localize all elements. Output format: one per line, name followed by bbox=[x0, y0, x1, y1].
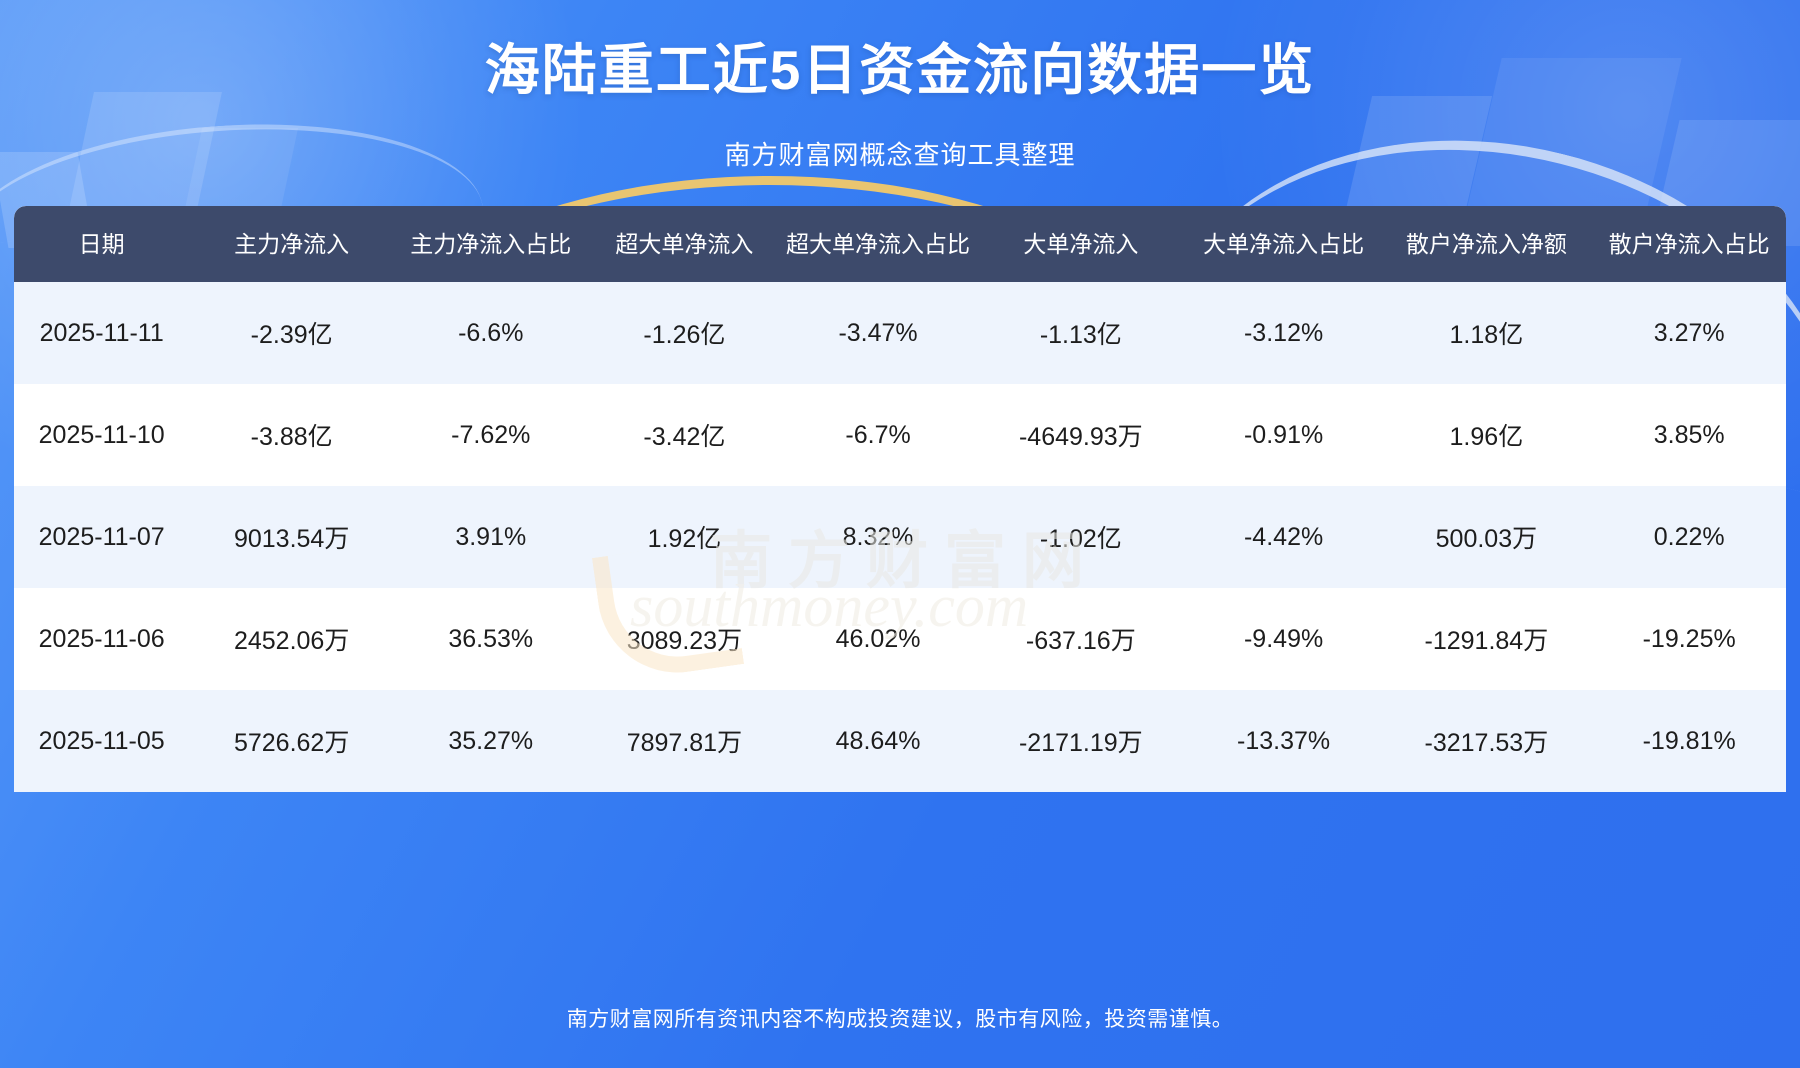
col-header-large-pct: 大单净流入占比 bbox=[1187, 206, 1381, 282]
table-row: 2025-11-10 -3.88亿 -7.62% -3.42亿 -6.7% -4… bbox=[14, 384, 1786, 486]
cell-xlarge-net: 7897.81万 bbox=[588, 690, 782, 792]
cell-large-pct: -0.91% bbox=[1187, 384, 1381, 486]
cell-large-net: -637.16万 bbox=[975, 588, 1187, 690]
footer: 南方财富网所有资讯内容不构成投资建议，股市有风险，投资需谨慎。 bbox=[0, 968, 1800, 1068]
cell-retail-pct: -19.25% bbox=[1592, 588, 1786, 690]
col-header-main-net: 主力净流入 bbox=[189, 206, 394, 282]
cell-large-net: -1.13亿 bbox=[975, 282, 1187, 384]
infographic-page: 海陆重工近5日资金流向数据一览 南方财富网概念查询工具整理 日期 主力净流入 主… bbox=[0, 0, 1800, 1068]
table-header-row: 日期 主力净流入 主力净流入占比 超大单净流入 超大单净流入占比 大单净流入 大… bbox=[14, 206, 1786, 282]
cell-xlarge-net: -1.26亿 bbox=[588, 282, 782, 384]
table-row: 2025-11-07 9013.54万 3.91% 1.92亿 8.32% -1… bbox=[14, 486, 1786, 588]
cell-large-net: -4649.93万 bbox=[975, 384, 1187, 486]
cell-retail-pct: -19.81% bbox=[1592, 690, 1786, 792]
cell-date: 2025-11-06 bbox=[14, 588, 189, 690]
cell-main-net: 9013.54万 bbox=[189, 486, 394, 588]
fund-flow-table-card: 日期 主力净流入 主力净流入占比 超大单净流入 超大单净流入占比 大单净流入 大… bbox=[14, 206, 1786, 792]
cell-xlarge-pct: 46.02% bbox=[781, 588, 975, 690]
cell-xlarge-pct: 48.64% bbox=[781, 690, 975, 792]
cell-date: 2025-11-05 bbox=[14, 690, 189, 792]
cell-date: 2025-11-10 bbox=[14, 384, 189, 486]
table-body: 2025-11-11 -2.39亿 -6.6% -1.26亿 -3.47% -1… bbox=[14, 282, 1786, 792]
cell-large-pct: -4.42% bbox=[1187, 486, 1381, 588]
table-row: 2025-11-06 2452.06万 36.53% 3089.23万 46.0… bbox=[14, 588, 1786, 690]
col-header-main-pct: 主力净流入占比 bbox=[394, 206, 588, 282]
page-subtitle: 南方财富网概念查询工具整理 bbox=[0, 135, 1800, 172]
cell-main-pct: -7.62% bbox=[394, 384, 588, 486]
cell-retail-net: 1.18亿 bbox=[1380, 282, 1592, 384]
cell-large-net: -1.02亿 bbox=[975, 486, 1187, 588]
cell-xlarge-pct: 8.32% bbox=[781, 486, 975, 588]
col-header-retail-pct: 散户净流入占比 bbox=[1592, 206, 1786, 282]
cell-xlarge-pct: -3.47% bbox=[781, 282, 975, 384]
cell-date: 2025-11-11 bbox=[14, 282, 189, 384]
cell-main-pct: 3.91% bbox=[394, 486, 588, 588]
cell-retail-pct: 3.27% bbox=[1592, 282, 1786, 384]
cell-retail-pct: 3.85% bbox=[1592, 384, 1786, 486]
cell-retail-pct: 0.22% bbox=[1592, 486, 1786, 588]
fund-flow-table: 日期 主力净流入 主力净流入占比 超大单净流入 超大单净流入占比 大单净流入 大… bbox=[14, 206, 1786, 792]
cell-retail-net: 1.96亿 bbox=[1380, 384, 1592, 486]
cell-retail-net: 500.03万 bbox=[1380, 486, 1592, 588]
table-row: 2025-11-05 5726.62万 35.27% 7897.81万 48.6… bbox=[14, 690, 1786, 792]
col-header-large-net: 大单净流入 bbox=[975, 206, 1187, 282]
cell-large-pct: -3.12% bbox=[1187, 282, 1381, 384]
cell-large-net: -2171.19万 bbox=[975, 690, 1187, 792]
cell-main-net: -3.88亿 bbox=[189, 384, 394, 486]
cell-main-net: -2.39亿 bbox=[189, 282, 394, 384]
cell-main-pct: -6.6% bbox=[394, 282, 588, 384]
cell-xlarge-net: -3.42亿 bbox=[588, 384, 782, 486]
cell-main-pct: 35.27% bbox=[394, 690, 588, 792]
cell-xlarge-pct: -6.7% bbox=[781, 384, 975, 486]
banner-header: 海陆重工近5日资金流向数据一览 南方财富网概念查询工具整理 bbox=[0, 0, 1800, 172]
col-header-xlarge-pct: 超大单净流入占比 bbox=[781, 206, 975, 282]
cell-retail-net: -1291.84万 bbox=[1380, 588, 1592, 690]
col-header-date: 日期 bbox=[14, 206, 189, 282]
cell-main-pct: 36.53% bbox=[394, 588, 588, 690]
cell-xlarge-net: 3089.23万 bbox=[588, 588, 782, 690]
cell-xlarge-net: 1.92亿 bbox=[588, 486, 782, 588]
cell-date: 2025-11-07 bbox=[14, 486, 189, 588]
cell-retail-net: -3217.53万 bbox=[1380, 690, 1592, 792]
cell-large-pct: -9.49% bbox=[1187, 588, 1381, 690]
table-row: 2025-11-11 -2.39亿 -6.6% -1.26亿 -3.47% -1… bbox=[14, 282, 1786, 384]
cell-main-net: 5726.62万 bbox=[189, 690, 394, 792]
footer-disclaimer: 南方财富网所有资讯内容不构成投资建议，股市有风险，投资需谨慎。 bbox=[567, 1003, 1234, 1033]
cell-main-net: 2452.06万 bbox=[189, 588, 394, 690]
cell-large-pct: -13.37% bbox=[1187, 690, 1381, 792]
col-header-retail-net: 散户净流入净额 bbox=[1380, 206, 1592, 282]
col-header-xlarge-net: 超大单净流入 bbox=[588, 206, 782, 282]
page-title: 海陆重工近5日资金流向数据一览 bbox=[0, 36, 1800, 105]
